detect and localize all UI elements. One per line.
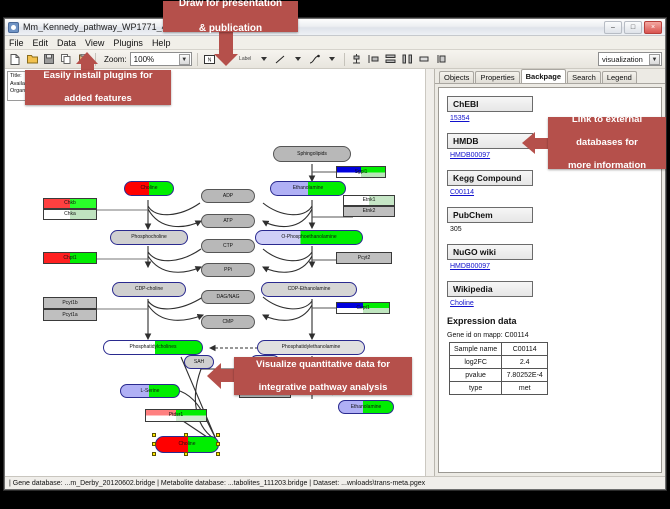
label-tool-icon[interactable]: Label xyxy=(237,52,254,66)
metabolite-node-o-phosphoethanolamine[interactable]: O-Phosphoethanolamine xyxy=(255,230,363,245)
callout-line: databases for xyxy=(568,137,646,149)
callout-draw-arrowhead xyxy=(214,54,238,66)
table-row: pvalue 7.80252E-4 xyxy=(450,369,548,382)
toolbar: Zoom: 100% ▼ N Label visualization ▼ xyxy=(5,50,665,69)
pathway-canvas[interactable]: Title: Availa Organ xyxy=(5,69,435,476)
backpage-link-nugo[interactable]: HMDB00097 xyxy=(450,263,661,270)
table-row: log2FC 2.4 xyxy=(450,356,548,369)
distribute-tool-icon[interactable] xyxy=(367,52,381,66)
gene-node-etnk1[interactable]: Etnk1 xyxy=(343,195,395,206)
tab-properties[interactable]: Properties xyxy=(475,71,519,83)
gene-node-etnk2[interactable]: Etnk2 xyxy=(343,206,395,217)
callout-visualize-text: Visualize quantitative data for integrat… xyxy=(256,359,390,394)
tab-objects[interactable]: Objects xyxy=(439,71,474,83)
stack-tool-icon[interactable] xyxy=(384,52,398,66)
node-label: Cept1 xyxy=(356,306,369,311)
metabolite-node-choline-top[interactable]: Choline xyxy=(124,181,174,196)
table-cell-value: met xyxy=(502,382,548,395)
node-label: Phosphatidylethanolamine xyxy=(282,345,341,350)
backpage-header-wikipedia: Wikipedia xyxy=(447,281,533,297)
node-label: Choline xyxy=(141,186,158,191)
menu-plugins[interactable]: Plugins xyxy=(113,38,143,48)
align-tool-icon[interactable] xyxy=(350,52,364,66)
new-file-icon[interactable] xyxy=(8,52,22,66)
selection-handle[interactable] xyxy=(216,433,220,437)
visualization-combobox[interactable]: visualization ▼ xyxy=(598,52,662,66)
line-tool-icon[interactable] xyxy=(274,52,288,66)
node-label: CDP-choline xyxy=(135,287,163,292)
callout-line: & publication xyxy=(179,23,282,35)
node-label: Sphingolipids xyxy=(297,152,327,157)
selection-handle[interactable] xyxy=(152,442,156,446)
gene-node-sgpl1[interactable]: Sgpl1 xyxy=(336,166,386,178)
menu-view[interactable]: View xyxy=(85,38,104,48)
order-tool-icon[interactable] xyxy=(435,52,449,66)
line-dropdown-icon[interactable] xyxy=(291,52,305,66)
backpage-header-kegg: Kegg Compound xyxy=(447,170,533,186)
metabolite-node-cdp-choline[interactable]: CDP-choline xyxy=(112,282,186,297)
zoom-label: Zoom: xyxy=(104,55,127,64)
metabolite-node-ctp[interactable]: CTP xyxy=(201,239,255,253)
callout-line: integrative pathway analysis xyxy=(256,382,390,394)
node-label: Ethanolamine xyxy=(293,186,324,191)
metabolite-node-phosphatidylethanolamine[interactable]: Phosphatidylethanolamine xyxy=(257,340,365,355)
expression-data-title: Expression data xyxy=(447,316,661,326)
node-label: SAH xyxy=(194,360,204,365)
callout-line: Visualize quantitative data for xyxy=(256,359,390,371)
interaction-tool-icon[interactable] xyxy=(308,52,322,66)
node-label: ATP xyxy=(223,219,232,224)
chevron-down-icon[interactable]: ▼ xyxy=(179,54,190,65)
metabolite-node-cdp-ethanolamine[interactable]: CDP-Ethanolamine xyxy=(261,282,357,297)
table-cell-key: Sample name xyxy=(450,343,502,356)
node-label: Phosphatidylcholines xyxy=(130,345,177,350)
gene-node-chka[interactable]: Chka xyxy=(43,209,97,220)
menu-data[interactable]: Data xyxy=(57,38,76,48)
metabolite-node-ethanolamine-bottom[interactable]: Ethanolamine xyxy=(338,400,394,414)
expression-table: Sample name C00114 log2FC 2.4 pvalue 7.8… xyxy=(449,342,548,395)
node-label: Chka xyxy=(64,212,76,217)
metabolite-node-cmp-left[interactable]: CMP xyxy=(201,315,255,329)
metabolite-node-l-serine-left[interactable]: L-Serine xyxy=(120,384,180,398)
menu-edit[interactable]: Edit xyxy=(33,38,49,48)
selection-handle[interactable] xyxy=(216,442,220,446)
callout-plugins-text: Easily install plugins for added feature… xyxy=(43,70,152,105)
node-label: CMP xyxy=(5,69,12,73)
table-cell-key: pvalue xyxy=(450,369,502,382)
tab-backpage[interactable]: Backpage xyxy=(521,69,566,83)
metabolite-node-phosphocholine[interactable]: Phosphocholine xyxy=(110,230,188,245)
selection-handle[interactable] xyxy=(152,433,156,437)
callout-visualize-arrowhead xyxy=(207,363,221,389)
node-label: Ptdsr1 xyxy=(169,413,183,418)
node-label: ADP xyxy=(223,194,233,199)
metabolite-node-ppi-left[interactable]: PPi xyxy=(201,263,255,277)
callout-links-arrowhead xyxy=(522,132,535,154)
callout-visualize: Visualize quantitative data for integrat… xyxy=(234,357,412,395)
svg-text:N: N xyxy=(208,57,212,63)
selection-handle[interactable] xyxy=(184,452,188,456)
node-label: Etnk2 xyxy=(363,209,376,214)
status-bar-text: | Gene database: ...m_Derby_20120602.bri… xyxy=(9,480,425,487)
gene-node-chpt1[interactable]: Chpt1 xyxy=(43,252,97,264)
metabolite-node-atp[interactable]: ATP xyxy=(201,214,255,228)
toolbar-separator xyxy=(344,53,345,66)
node-label: CMP xyxy=(222,320,233,325)
minimize-button[interactable]: – xyxy=(604,21,622,34)
selection-handle[interactable] xyxy=(216,452,220,456)
node-label: PPi xyxy=(224,268,232,273)
menu-bar: File Edit Data View Plugins Help xyxy=(5,36,665,50)
maximize-button[interactable]: □ xyxy=(624,21,642,34)
menu-help[interactable]: Help xyxy=(152,38,171,48)
table-row: type met xyxy=(450,382,548,395)
save-icon[interactable] xyxy=(42,52,56,66)
metabolite-node-phosphatidylcholines[interactable]: Phosphatidylcholines xyxy=(103,340,203,355)
menu-file[interactable]: File xyxy=(9,38,24,48)
chevron-down-icon[interactable]: ▼ xyxy=(649,54,660,65)
node-label: Choline xyxy=(179,442,196,447)
close-button[interactable]: × xyxy=(644,21,662,34)
gene-node-pcyt1b[interactable]: Pcyt1b xyxy=(43,297,97,309)
status-bar: | Gene database: ...m_Derby_20120602.bri… xyxy=(5,476,665,489)
gene-id-on-mapp: Gene id on mapp: C00114 xyxy=(447,332,661,339)
callout-line: added features xyxy=(43,93,152,105)
table-cell-value: 7.80252E-4 xyxy=(502,369,548,382)
gene-node-ptdsr1[interactable]: Ptdsr1 xyxy=(145,409,207,422)
canvas-vertical-scrollbar[interactable] xyxy=(425,69,434,476)
callout-plugins: Easily install plugins for added feature… xyxy=(25,70,171,105)
backpage-value-pubchem: 305 xyxy=(450,226,661,233)
gene-node-pcyt2[interactable]: Pcyt2 xyxy=(336,252,392,264)
open-folder-icon[interactable] xyxy=(25,52,39,66)
callout-draw: Draw for presentation & publication xyxy=(163,1,298,32)
selection-handle[interactable] xyxy=(152,452,156,456)
visualization-value: visualization xyxy=(602,55,643,64)
tab-search[interactable]: Search xyxy=(567,71,601,83)
backpage-header-chebi: ChEBI xyxy=(447,96,533,112)
gene-node-pcyt1a[interactable]: Pcyt1a xyxy=(43,309,97,321)
node-label: Pcyt1b xyxy=(62,301,77,306)
callout-line: Easily install plugins for xyxy=(43,70,152,82)
metabolite-node-adp[interactable]: ADP xyxy=(201,189,255,203)
node-label: DAG/NAG xyxy=(216,295,239,300)
callout-draw-text: Draw for presentation & publication xyxy=(179,0,282,35)
table-cell-value: C00114 xyxy=(502,343,548,356)
backpage-header-hmdb: HMDB xyxy=(447,133,533,149)
table-cell-value: 2.4 xyxy=(502,356,548,369)
metabolite-node-ethanolamine-top[interactable]: Ethanolamine xyxy=(270,181,346,196)
zoom-combobox[interactable]: 100% ▼ xyxy=(130,52,192,66)
tab-legend[interactable]: Legend xyxy=(602,71,637,83)
table-cell-key: log2FC xyxy=(450,356,502,369)
node-label: O-Phosphoethanolamine xyxy=(281,235,336,240)
title-bar: Mm_Kennedy_pathway_WP1771_45176.gpml – □… xyxy=(5,19,665,36)
gene-node-chkb[interactable]: Chkb xyxy=(43,198,97,209)
side-panel-tabs: Objects Properties Backpage Search Legen… xyxy=(435,69,665,84)
backpage-header-pubchem: PubChem xyxy=(447,207,533,223)
gene-node-cept1[interactable]: Cept1 xyxy=(336,302,390,314)
node-label: Pcyt1a xyxy=(62,313,77,318)
node-label: Etnk1 xyxy=(363,198,376,203)
selection-handle[interactable] xyxy=(184,433,188,437)
space-tool-icon[interactable] xyxy=(401,52,415,66)
node-label: Sgpl1 xyxy=(355,170,368,175)
application-icon xyxy=(8,22,19,33)
node-label: Chkb xyxy=(64,201,76,206)
callout-line: Link to external xyxy=(568,114,646,126)
node-label: CTP xyxy=(223,244,233,249)
table-cell-key: type xyxy=(450,382,502,395)
group-tool-icon[interactable] xyxy=(418,52,432,66)
node-label: Phosphocholine xyxy=(131,235,167,240)
window-controls: – □ × xyxy=(604,21,662,34)
metabolite-node-choline-selected[interactable]: Choline xyxy=(155,436,219,453)
node-label: L-Serine xyxy=(141,389,160,394)
callout-links-text: Link to external databases for more info… xyxy=(568,114,646,172)
node-label: CDP-Ethanolamine xyxy=(288,287,331,292)
node-label: Ethanolamine xyxy=(351,405,382,410)
zoom-value: 100% xyxy=(134,55,154,64)
table-row: Sample name C00114 xyxy=(450,343,548,356)
toolbar-separator xyxy=(197,53,198,66)
callout-plugins-arrowhead xyxy=(76,52,98,64)
callout-draw-stem xyxy=(219,32,233,54)
node-label: ATP xyxy=(197,213,206,218)
interaction-dropdown-icon[interactable] xyxy=(325,52,339,66)
metabolite-node-sphingolipids[interactable]: Sphingolipids xyxy=(273,146,351,162)
node-label: Chpt1 xyxy=(63,256,76,261)
label-dropdown-icon[interactable] xyxy=(257,52,271,66)
callout-line: more information xyxy=(568,160,646,172)
copy-icon[interactable] xyxy=(59,52,73,66)
callout-line: Draw for presentation xyxy=(179,0,282,10)
backpage-header-nugo: NuGO wiki xyxy=(447,244,533,260)
metabolite-node-dag-nag-left[interactable]: DAG/NAG xyxy=(201,290,255,304)
node-label: Pcyt2 xyxy=(358,256,371,261)
backpage-link-kegg[interactable]: C00114 xyxy=(450,189,661,196)
backpage-link-wikipedia[interactable]: Choline xyxy=(450,300,661,307)
callout-links: Link to external databases for more info… xyxy=(548,117,666,169)
